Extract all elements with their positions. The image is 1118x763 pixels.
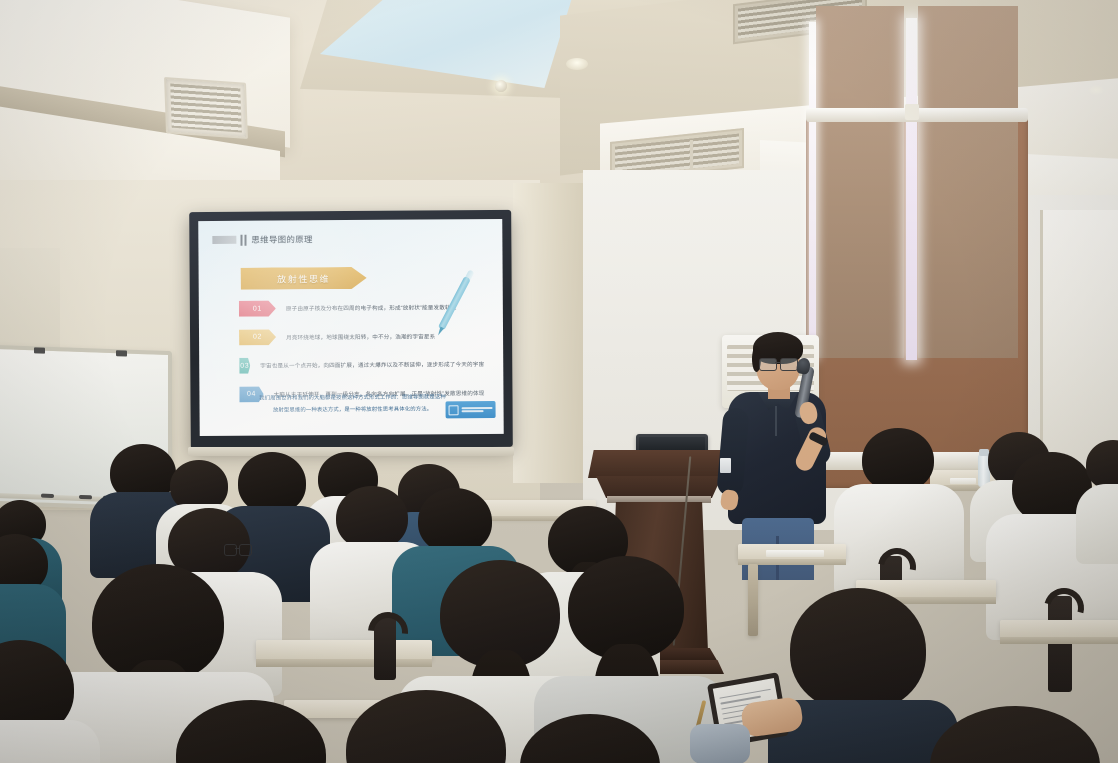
desk-left-front	[256, 640, 432, 660]
audience-head	[790, 588, 926, 712]
window-roller-blind-right[interactable]	[918, 6, 1018, 358]
ceiling-light-icon	[566, 58, 588, 70]
slide-footnote-line-1: 我们周围世界和我们的大脑都是按照这种方式形式工作的：思维导图就是这种	[223, 391, 481, 405]
slide-banner: 放射性思维	[241, 267, 367, 290]
presenter-placket	[775, 406, 777, 436]
desk-edge-far-right-front	[1000, 637, 1118, 644]
eyeglass-lens-left	[224, 544, 237, 556]
audience-body	[0, 720, 100, 763]
audience-head	[238, 452, 306, 514]
eyeglasses-icon	[758, 358, 798, 369]
slide-row-text: 原子由原子核及分布在四周的电子构成，形成“放射状”能量发散轨道	[286, 303, 457, 312]
blind-bracket	[905, 104, 919, 120]
slide-header-block	[212, 236, 236, 244]
whiteboard-clip-1	[34, 347, 45, 353]
projector-lens-icon	[495, 80, 507, 92]
classroom-photo: 思维导图的原理 放射性思维 01 原子由原子核及分布在四周的电子构成，形成“放射…	[0, 0, 1118, 763]
slide-row-tag: 03	[239, 358, 250, 374]
slide-banner-label: 放射性思维	[277, 272, 330, 285]
eyeglass-lens-left	[759, 358, 777, 371]
slide-footnote-line-2: 放射型思维的一种表达方式，是一种将放射性思考具体化的方法。	[224, 403, 482, 417]
eyeglasses-icon	[224, 544, 250, 554]
paper-sheet-right[interactable]	[766, 550, 824, 557]
audience-head	[862, 428, 934, 492]
desk-edge-left-front	[256, 659, 432, 667]
slide-corner-badge	[446, 401, 496, 418]
window-roller-blind-left[interactable]	[816, 6, 904, 358]
ceiling-air-vent-icon	[164, 77, 248, 139]
screen-display-area: 思维导图的原理 放射性思维 01 原子由原子核及分布在四周的电子构成，形成“放射…	[198, 219, 503, 436]
slide-row-text: 宇宙也是从一个点开始，向四面扩展，通过大爆炸以及不断延伸，逐步形成了今天的宇宙	[260, 360, 484, 370]
slide-row-tag: 02	[239, 329, 276, 345]
slide-footnote: 我们周围世界和我们的大脑都是按照这种方式形式工作的：思维导图就是这种 放射型思维…	[223, 391, 481, 417]
window-right	[1040, 210, 1118, 460]
badge-lines	[462, 406, 493, 414]
eyeglass-lens-right	[239, 544, 252, 556]
whiteboard-clip-2	[116, 350, 127, 356]
audience-body	[1076, 484, 1118, 564]
slide-row: 02 月亮环绕地球，地球围绕太阳转，中不分，浩瀚的宇宙星系	[239, 328, 484, 346]
slide-row-tag: 01	[239, 301, 276, 317]
eyeglass-lens-right	[780, 358, 798, 371]
presenter	[714, 330, 842, 580]
audience-shoulder	[690, 724, 750, 763]
slide-header: 思维导图的原理	[212, 233, 313, 246]
slide-row-text: 月亮环绕地球，地球围绕太阳转，中不分，浩瀚的宇宙星系	[286, 332, 435, 341]
paper-sheet-back[interactable]	[950, 478, 976, 484]
vent-grill	[170, 83, 241, 132]
whiteboard-marker-1[interactable]	[41, 494, 54, 498]
ceiling-light-2-icon	[1088, 85, 1104, 95]
lectern-band	[607, 496, 711, 503]
projection-screen[interactable]: 思维导图的原理 放射性思维 01 原子由原子核及分布在四周的电子构成，形成“放射…	[189, 210, 513, 449]
lectern-top	[588, 450, 730, 478]
slide-header-bars-icon	[240, 234, 247, 245]
audience-head	[930, 706, 1100, 763]
lectern-lip	[596, 476, 722, 498]
desk-far-right-front	[1000, 620, 1118, 638]
presenter-badge	[720, 458, 731, 473]
whiteboard-marker-2[interactable]	[79, 495, 92, 499]
slide-row: 03 宇宙也是从一个点开始，向四面扩展，通过大爆炸以及不断延伸，逐步形成了今天的…	[239, 356, 484, 374]
badge-mark-icon	[449, 405, 459, 415]
blind-light-gap-left	[809, 22, 816, 358]
slide-title: 思维导图的原理	[251, 233, 313, 245]
blind-light-gap-center	[906, 18, 917, 360]
slide-content: 思维导图的原理 放射性思维 01 原子由原子核及分布在四周的电子构成，形成“放射…	[198, 219, 503, 436]
wall-pillar	[513, 183, 585, 483]
audience-head	[336, 486, 408, 550]
desk-leg-right-front	[748, 564, 758, 636]
audience-head	[418, 488, 492, 554]
